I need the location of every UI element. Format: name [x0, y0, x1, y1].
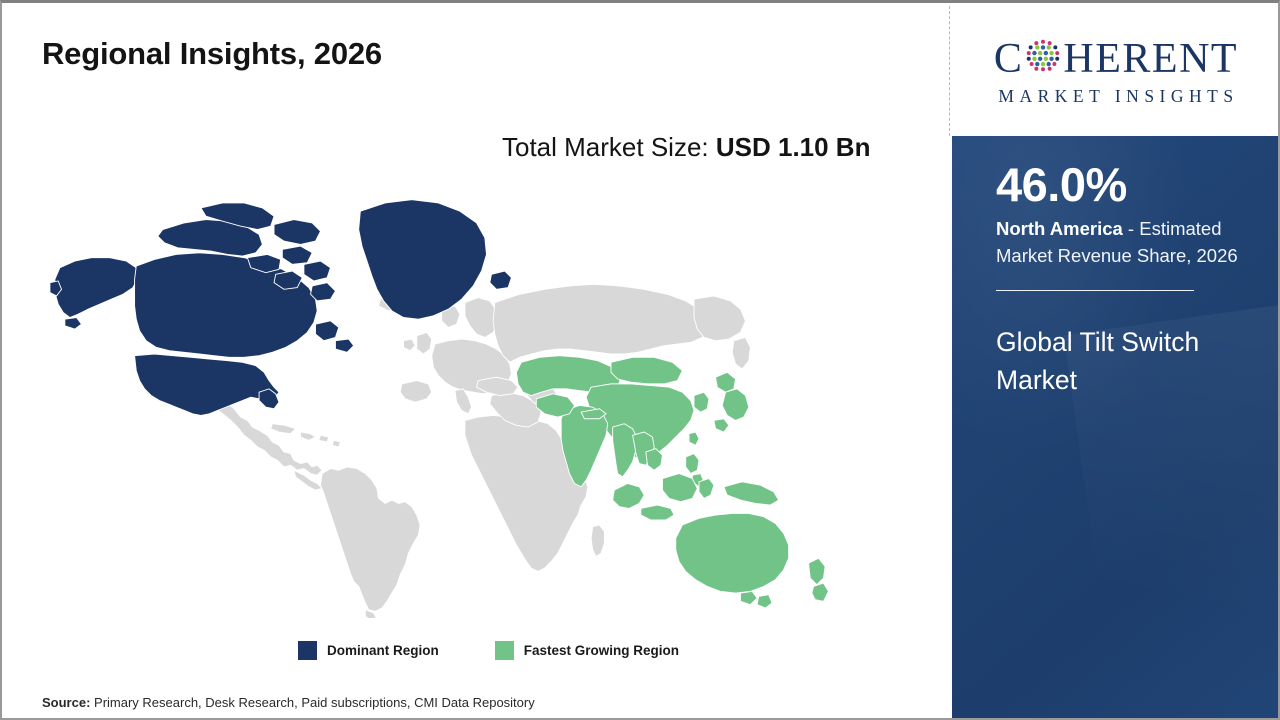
world-map — [30, 178, 860, 618]
left-content-pane: Regional Insights, 2026 Total Market Siz… — [2, 3, 949, 718]
vertical-dashed-divider — [949, 6, 950, 136]
legend-swatch-dominant — [298, 641, 317, 660]
total-market-size: Total Market Size: USD 1.10 Bn — [502, 129, 894, 166]
legend-label-dominant: Dominant Region — [327, 643, 439, 658]
source-text: Primary Research, Desk Research, Paid su… — [90, 695, 534, 710]
logo-letter-c: C — [994, 38, 1024, 80]
page-title: Regional Insights, 2026 — [42, 36, 382, 72]
slide-root: Regional Insights, 2026 Total Market Siz… — [0, 0, 1280, 720]
stat-panel-content: 46.0% North America - Estimated Market R… — [952, 136, 1280, 400]
legend-item-fastest-growing: Fastest Growing Region — [495, 641, 679, 660]
market-size-label: Total Market Size: — [502, 132, 716, 162]
source-label: Source: — [42, 695, 90, 710]
source-note: Source: Primary Research, Desk Research,… — [42, 695, 535, 710]
world-map-svg — [30, 178, 860, 618]
logo-letters-herent: HERENT — [1063, 38, 1238, 80]
map-region-north-america — [50, 200, 511, 416]
logo-subtitle: MARKET INSIGHTS — [993, 86, 1238, 107]
market-size-value: USD 1.10 Bn — [716, 132, 871, 162]
brand-logo: C — [952, 6, 1280, 136]
map-legend: Dominant Region Fastest Growing Region — [298, 641, 679, 660]
logo-wordmark: C — [994, 36, 1238, 82]
legend-label-fastest-growing: Fastest Growing Region — [524, 643, 679, 658]
stat-panel: 46.0% North America - Estimated Market R… — [952, 136, 1280, 720]
legend-item-dominant: Dominant Region — [298, 641, 439, 660]
panel-divider-rule — [996, 290, 1194, 292]
stat-description: North America - Estimated Market Revenue… — [996, 216, 1240, 270]
stat-region-name: North America — [996, 218, 1123, 239]
legend-swatch-fastest — [495, 641, 514, 660]
globe-icon — [1024, 36, 1062, 82]
stat-value: 46.0% — [996, 160, 1240, 209]
market-name: Global Tilt Switch Market — [996, 324, 1240, 399]
